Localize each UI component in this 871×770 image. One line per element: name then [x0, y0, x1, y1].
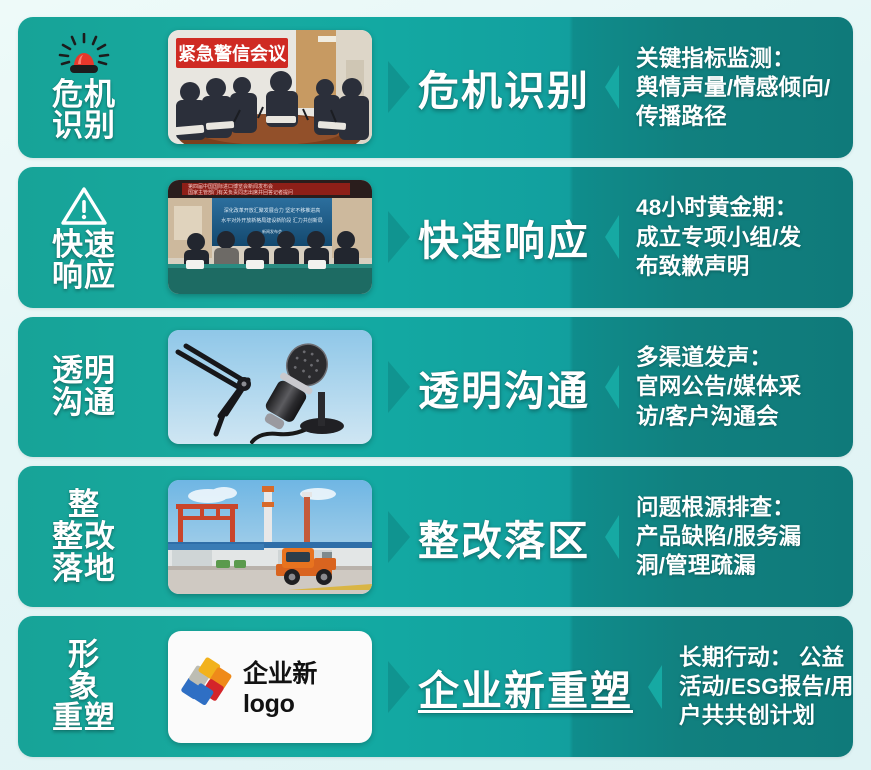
detail-line: 长期行动： 公益 — [679, 643, 853, 672]
stage-label-line: 整改 — [52, 521, 116, 553]
press-conference-panel-photo: 第四届中国国际进口博览会新闻发布会 国家主管部门有关负责同志出席并回答记者提问 … — [168, 180, 372, 294]
stage-cell: 危机 识别 — [18, 17, 150, 158]
panel-notch-icon — [647, 616, 661, 757]
stage-label-line: 危机 — [52, 79, 116, 111]
detail-line: 布致歉声明 — [636, 252, 801, 281]
stage-label-line: 形 — [52, 639, 116, 671]
flow-row-crisis-identification[interactable]: 危机 识别 紧急警信会议 — [18, 17, 853, 158]
detail-line: 多渠道发声： — [636, 343, 801, 372]
detail-line: 产品缺陷/服务漏 — [636, 522, 801, 551]
detail-line: 成立专项小组/发 — [636, 223, 801, 252]
stage-cell: 透明 沟通 — [18, 317, 150, 458]
company-logo-text: 企业新logo — [243, 654, 364, 719]
crisis-management-flow-board: 危机 识别 紧急警信会议 — [18, 17, 853, 757]
flow-arrow-icon — [390, 17, 418, 158]
emergency-warning-meeting-photo: 紧急警信会议 — [168, 30, 372, 144]
detail-line: 活动/ESG报告/用 — [679, 672, 853, 701]
detail-line: 访/客户沟通会 — [636, 402, 801, 431]
flow-row-rectification[interactable]: 整 整改 落地 — [18, 466, 853, 607]
title-cell: 企业新重塑 — [418, 616, 647, 757]
stage-label-line: 落地 — [52, 553, 116, 585]
flow-arrow-icon — [390, 167, 418, 308]
stage-label: 危机 识别 — [52, 79, 116, 142]
company-new-logo-card: 企业新logo — [168, 631, 372, 743]
stage-label-line: 透明 — [52, 355, 116, 387]
svg-text:紧急警信会议: 紧急警信会议 — [178, 43, 287, 64]
detail-cell: 长期行动： 公益 活动/ESG报告/用 户共共创计划 — [661, 616, 853, 757]
detail-text: 长期行动： 公益 活动/ESG报告/用 户共共创计划 — [679, 643, 853, 731]
panel-notch-icon — [604, 17, 618, 158]
stage-cell: 整 整改 落地 — [18, 466, 150, 607]
detail-cell: 关键指标监测： 舆情声量/情感倾向/ 传播路径 — [618, 17, 853, 158]
stage-title: 整改落区 — [418, 507, 590, 567]
panel-notch-icon — [604, 317, 618, 458]
stage-label-line: 整 — [52, 489, 116, 521]
media-cell: 企业新logo — [150, 616, 390, 757]
stage-label-line: 识别 — [52, 110, 116, 142]
stage-label-line: 重塑 — [52, 702, 116, 734]
stage-label-line: 快速 — [52, 229, 116, 261]
company-logo-mark-icon — [176, 655, 234, 718]
title-cell: 透明沟通 — [418, 317, 604, 458]
microphone-photo — [168, 330, 372, 444]
detail-line: 传播路径 — [636, 102, 831, 131]
stage-title: 危机识别 — [418, 57, 590, 117]
title-cell: 快速响应 — [418, 167, 604, 308]
detail-text: 关键指标监测： 舆情声量/情感倾向/ 传播路径 — [636, 44, 831, 132]
alarm-siren-icon — [56, 33, 112, 77]
detail-line: 舆情声量/情感倾向/ — [636, 73, 831, 102]
title-cell: 整改落区 — [418, 466, 604, 607]
industrial-plant-truck-photo — [168, 480, 372, 594]
detail-line: 户共共创计划 — [679, 701, 853, 730]
detail-text: 48小时黄金期： 成立专项小组/发 布致歉声明 — [636, 193, 801, 281]
flow-row-transparent-communication[interactable]: 透明 沟通 — [18, 317, 853, 458]
media-cell: 紧急警信会议 — [150, 17, 390, 158]
media-cell — [150, 317, 390, 458]
warning-triangle-icon — [60, 183, 108, 227]
detail-text: 问题根源排查： 产品缺陷/服务漏 洞/管理疏漏 — [636, 493, 801, 581]
stage-title: 快速响应 — [418, 207, 590, 267]
stage-label-line: 沟通 — [52, 387, 116, 419]
title-cell: 危机识别 — [418, 17, 604, 158]
panel-notch-icon — [604, 466, 618, 607]
stage-label: 形 象 重塑 — [52, 639, 116, 734]
flow-arrow-icon — [390, 466, 418, 607]
detail-line: 官网公告/媒体采 — [636, 372, 801, 401]
svg-text:深化改革开放汇聚发展合力 坚定不移推进高: 深化改革开放汇聚发展合力 坚定不移推进高 — [224, 207, 320, 214]
stage-cell: 快速 响应 — [18, 167, 150, 308]
media-cell — [150, 466, 390, 607]
stage-label-line: 响应 — [52, 260, 116, 292]
flow-row-rapid-response[interactable]: 快速 响应 第四届中国国际进口博览会新闻发布会 国家主管部门有关负责同志出席并回… — [18, 167, 853, 308]
stage-title: 透明沟通 — [418, 357, 590, 417]
flow-row-brand-rebuild[interactable]: 形 象 重塑 — [18, 616, 853, 757]
detail-line: 48小时黄金期： — [636, 193, 801, 222]
detail-line: 问题根源排查： — [636, 493, 801, 522]
detail-cell: 问题根源排查： 产品缺陷/服务漏 洞/管理疏漏 — [618, 466, 853, 607]
flow-arrow-icon — [390, 616, 418, 757]
svg-text:水平对外开放新格局建设新阶段 汇力共创新局: 水平对外开放新格局建设新阶段 汇力共创新局 — [221, 217, 322, 224]
flow-arrow-icon — [390, 317, 418, 458]
panel-notch-icon — [604, 167, 618, 308]
svg-text:国家主管部门有关负责同志出席并回答记者提问: 国家主管部门有关负责同志出席并回答记者提问 — [188, 189, 293, 196]
stage-label: 整 整改 落地 — [52, 489, 116, 584]
stage-cell: 形 象 重塑 — [18, 616, 150, 757]
stage-label: 透明 沟通 — [52, 355, 116, 418]
svg-text:第四届中国国际进口博览会新闻发布会: 第四届中国国际进口博览会新闻发布会 — [188, 183, 273, 190]
stage-label-line: 象 — [52, 671, 116, 703]
detail-line: 关键指标监测： — [636, 44, 831, 73]
stage-title: 企业新重塑 — [418, 657, 633, 717]
stage-label: 快速 响应 — [52, 229, 116, 292]
detail-line: 洞/管理疏漏 — [636, 551, 801, 580]
media-cell: 第四届中国国际进口博览会新闻发布会 国家主管部门有关负责同志出席并回答记者提问 … — [150, 167, 390, 308]
detail-text: 多渠道发声： 官网公告/媒体采 访/客户沟通会 — [636, 343, 801, 431]
svg-text:新闻发布会: 新闻发布会 — [262, 228, 282, 234]
detail-cell: 多渠道发声： 官网公告/媒体采 访/客户沟通会 — [618, 317, 853, 458]
detail-cell: 48小时黄金期： 成立专项小组/发 布致歉声明 — [618, 167, 853, 308]
